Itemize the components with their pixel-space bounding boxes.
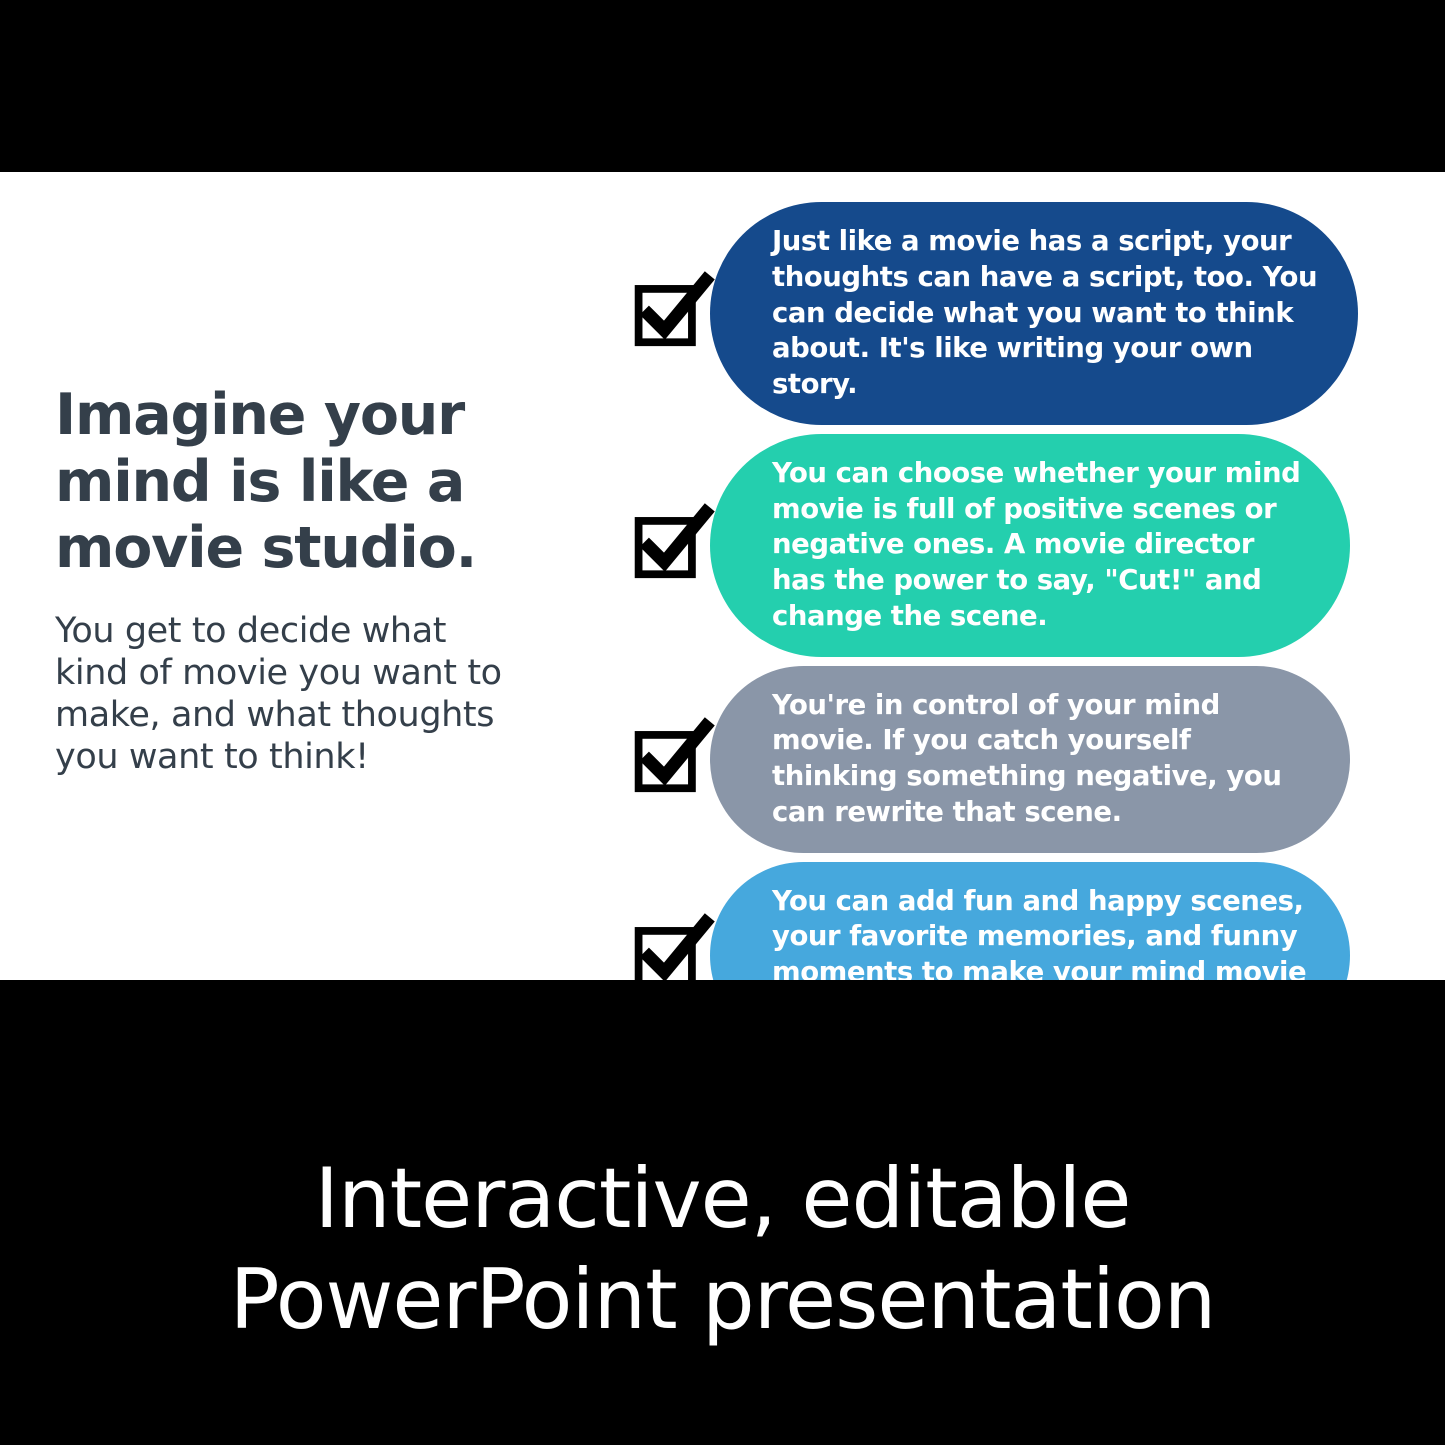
checklist-pill: You're in control of your mind movie. If… <box>710 666 1350 853</box>
promo-caption-line-1: Interactive, editable <box>0 1148 1445 1249</box>
checklist-pill-text: You can choose whether your mind movie i… <box>772 456 1316 635</box>
checklist-pill: Just like a movie has a script, your tho… <box>710 202 1358 425</box>
checklist-pill: You can add fun and happy scenes, your f… <box>710 862 1350 981</box>
checklist-pill-text: Just like a movie has a script, your tho… <box>772 224 1324 403</box>
slide-left-column: Imagine your mind is like a movie studio… <box>55 382 525 778</box>
slide-headline: Imagine your mind is like a movie studio… <box>55 382 525 582</box>
presentation-slide: Imagine your mind is like a movie studio… <box>0 172 1445 980</box>
checkbox-checked-icon[interactable] <box>630 270 716 356</box>
checklist-item[interactable]: You can choose whether your mind movie i… <box>630 434 1410 657</box>
checklist-pill-text: You're in control of your mind movie. If… <box>772 688 1316 831</box>
checklist-pill-text: You can add fun and happy scenes, your f… <box>772 884 1316 981</box>
promo-caption-line-2: PowerPoint presentation <box>0 1249 1445 1350</box>
checkbox-checked-icon[interactable] <box>630 912 716 980</box>
slide-subcopy: You get to decide what kind of movie you… <box>55 610 525 778</box>
checklist-pill: You can choose whether your mind movie i… <box>710 434 1350 657</box>
checkbox-checked-icon[interactable] <box>630 502 716 588</box>
checklist-item[interactable]: You can add fun and happy scenes, your f… <box>630 862 1410 981</box>
checklist-item[interactable]: Just like a movie has a script, your tho… <box>630 202 1410 425</box>
checklist: Just like a movie has a script, your tho… <box>630 202 1410 980</box>
checklist-item[interactable]: You're in control of your mind movie. If… <box>630 666 1410 853</box>
checkbox-checked-icon[interactable] <box>630 716 716 802</box>
slide-preview-page: Imagine your mind is like a movie studio… <box>0 0 1445 1445</box>
promo-caption: Interactive, editable PowerPoint present… <box>0 1148 1445 1351</box>
top-black-band <box>0 0 1445 172</box>
